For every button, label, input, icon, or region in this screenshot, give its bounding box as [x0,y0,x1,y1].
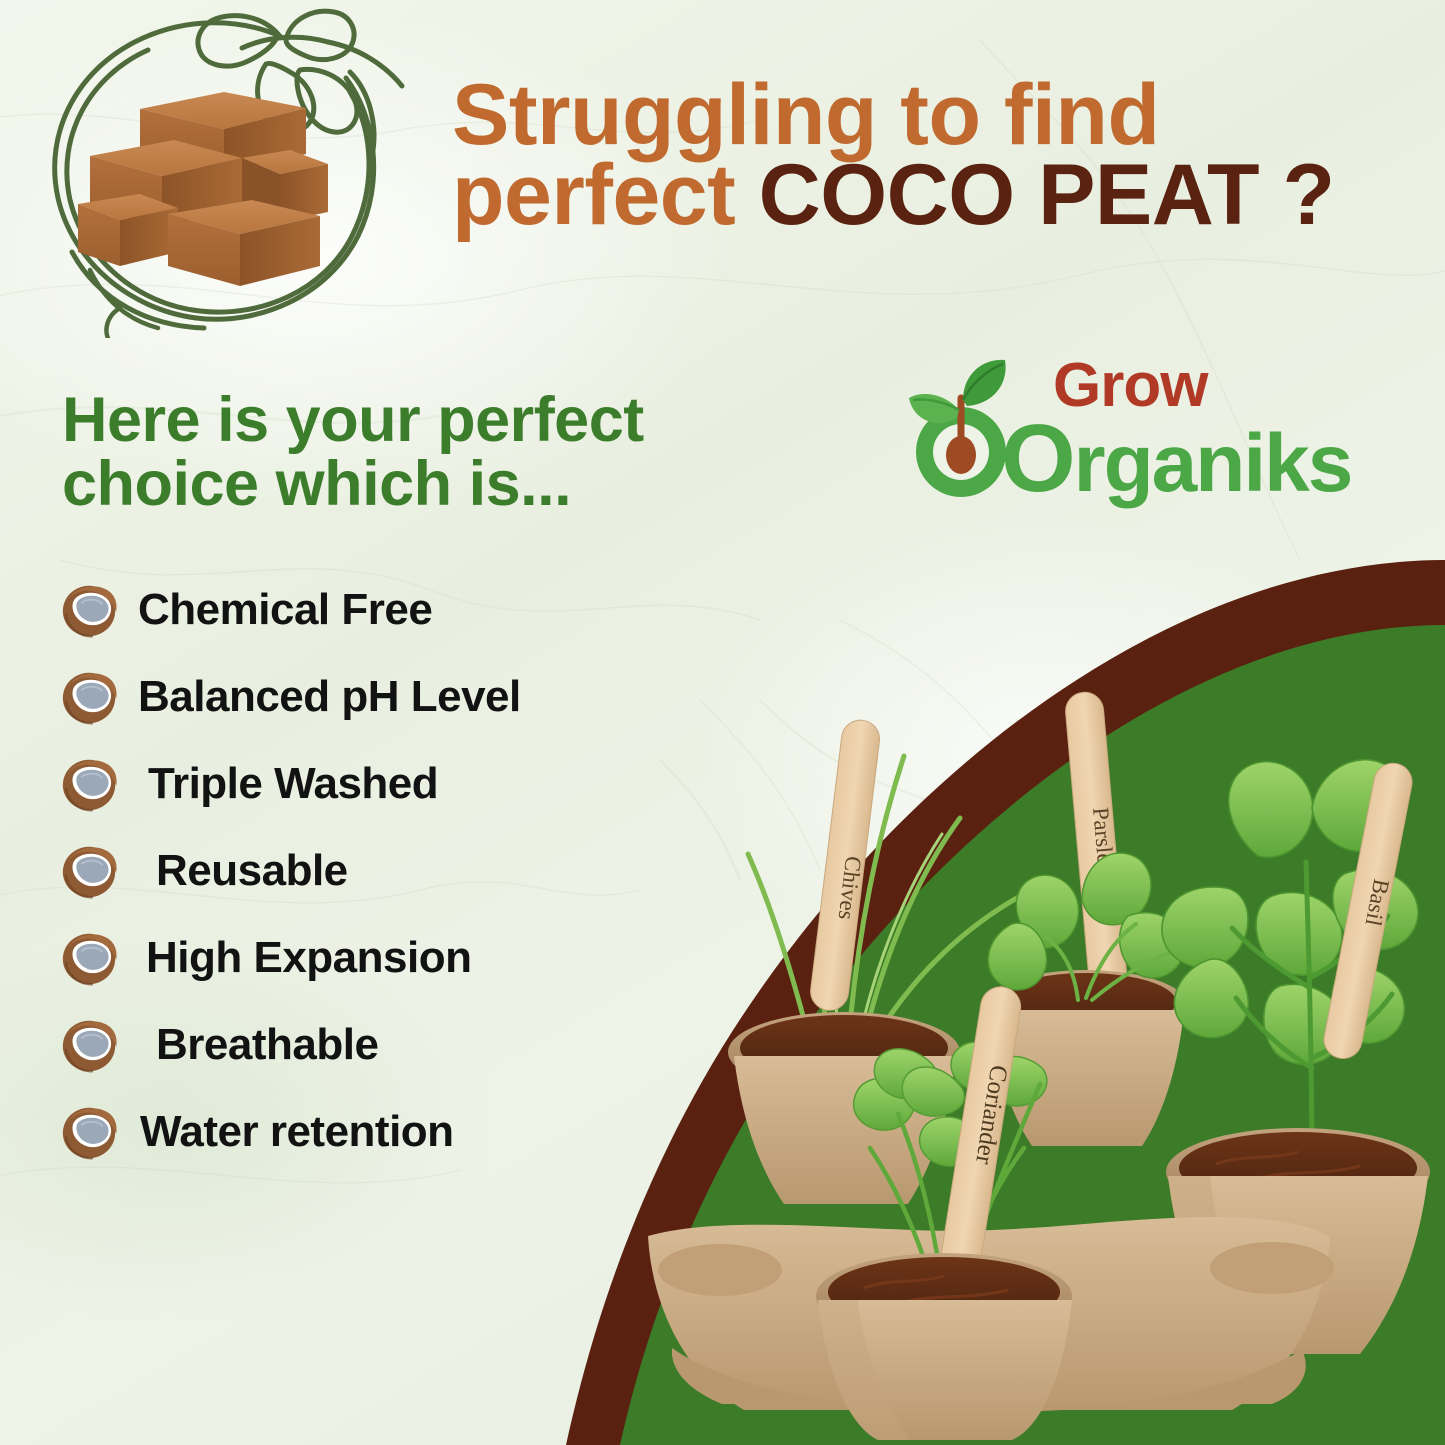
headline-prefix: perfect [452,147,759,243]
feature-label: Water retention [140,1107,454,1157]
feature-label: Triple Washed [148,759,438,809]
coconut-icon [58,753,120,815]
coco-peat-emblem [28,8,408,338]
coconut-icon [58,1101,120,1163]
coconut-icon [58,927,120,989]
coconut-icon [58,666,120,728]
coco-peat-bricks-illustration [28,8,408,338]
coconut-icon [58,666,120,728]
headline: Struggling to find perfect COCO PEAT ? [452,76,1427,236]
headline-emphasis: COCO PEAT ? [759,147,1335,243]
feature-list-item: Breathable [58,1001,618,1088]
feature-label: Breathable [156,1020,378,1070]
coconut-icon [58,579,120,641]
feature-list-item: Water retention [58,1088,618,1175]
subheadline-line-2: choice which is... [62,452,822,516]
logo-word-organiks: Organiks [1001,404,1351,514]
headline-line-2: perfect COCO PEAT ? [452,156,1427,236]
coconut-icon [58,1014,120,1076]
feature-list: Chemical Free Balanced pH Level Triple W… [58,566,618,1175]
feature-list-item: High Expansion [58,914,618,1001]
product-photo-seedling-tray: Chives Parsley [612,648,1445,1445]
coconut-icon [58,927,120,989]
coconut-icon [58,1014,120,1076]
coconut-icon [58,840,120,902]
coconut-icon [58,840,120,902]
coconut-icon [58,579,120,641]
coconut-icon [58,1101,120,1163]
feature-label: High Expansion [146,933,471,983]
feature-list-item: Chemical Free [58,566,618,653]
feature-label: Chemical Free [138,585,432,635]
feature-list-item: Reusable [58,827,618,914]
feature-label: Reusable [156,846,348,896]
subheadline: Here is your perfect choice which is... [62,388,822,517]
poster-canvas: Struggling to find perfect COCO PEAT ? H… [0,0,1445,1445]
seedling-tray-illustration: Chives Parsley [612,648,1445,1445]
feature-label: Balanced pH Level [138,672,521,722]
subheadline-line-1: Here is your perfect [62,388,822,452]
logo-word-organiks-tail: rganiks [1074,418,1352,509]
coconut-icon [58,753,120,815]
feature-list-item: Triple Washed [58,740,618,827]
feature-list-item: Balanced pH Level [58,653,618,740]
headline-line-1: Struggling to find [452,76,1427,156]
brand-logo: Grow Organiks [905,352,1295,502]
